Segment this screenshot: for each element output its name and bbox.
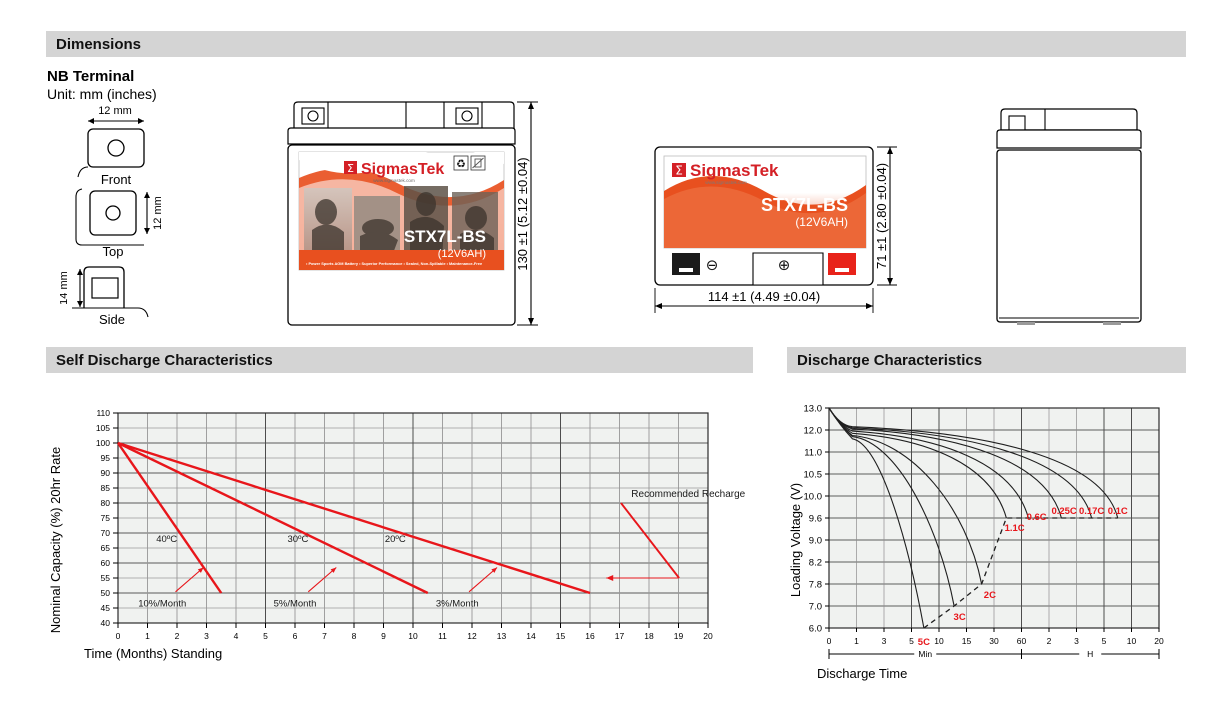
- battery-tagline: • Power Sports AGM Battery • Superior Pe…: [306, 261, 483, 266]
- x-tick-label: 10: [408, 631, 418, 641]
- rate-label-0.25C: 0.25C: [1051, 506, 1076, 517]
- axis-group-label: Min: [918, 649, 932, 659]
- y-tick-label: 60: [101, 558, 111, 568]
- battery-side-height-dimension: 71 ±1 (2.80 ±0.04): [874, 163, 889, 269]
- x-tick-label: 5: [263, 631, 268, 641]
- y-tick-label: 6.0: [809, 624, 822, 635]
- terminal-side-label: Side: [99, 312, 125, 327]
- battery-side-view: Σ SigmasTek www.sigmastek.com STX7L-BS (…: [650, 143, 935, 333]
- terminal-height-dim: 14 mm: [60, 271, 70, 305]
- x-tick-label: 8: [352, 631, 357, 641]
- section-header-discharge: Discharge Characteristics: [787, 347, 1186, 373]
- y-tick-label: 10.5: [804, 470, 823, 481]
- x-tick-label: 20: [703, 631, 713, 641]
- y-tick-label: 8.2: [809, 558, 822, 569]
- y-tick-label: 40: [101, 618, 111, 628]
- terminal-diagrams: 12 mm Front 12 mm Top 14 mm Side: [60, 104, 250, 330]
- battery-capacity-side: (12V6AH): [795, 215, 848, 229]
- battery-width-dimension: 114 ±1 (4.49 ±0.04): [708, 289, 820, 304]
- chart-annotation: 20ºC: [385, 534, 406, 545]
- section-header-self-discharge: Self Discharge Characteristics: [46, 347, 753, 373]
- y-tick-label: 13.0: [804, 404, 823, 415]
- self-discharge-x-axis-label: Time (Months) Standing: [84, 646, 222, 661]
- svg-text:Σ: Σ: [675, 164, 683, 178]
- rate-label-0.6C: 0.6C: [1027, 512, 1047, 523]
- section-title-dimensions: Dimensions: [56, 36, 141, 53]
- x-tick-label: 13: [497, 631, 507, 641]
- rate-label-5C: 5C: [918, 637, 930, 648]
- x-tick-label: 11: [438, 631, 447, 641]
- x-tick-label: 3: [1074, 636, 1079, 646]
- x-tick-label: 19: [674, 631, 684, 641]
- y-tick-label: 7.8: [809, 580, 822, 591]
- x-tick-label: 6: [293, 631, 298, 641]
- positive-terminal-icon: ⊕: [778, 256, 791, 274]
- x-tick-label: 9: [381, 631, 386, 641]
- battery-model-side: STX7L-BS: [761, 195, 848, 215]
- y-tick-label: 110: [96, 408, 110, 418]
- rate-label-0.1C: 0.1C: [1108, 506, 1128, 517]
- discharge-y-axis-label: Loading Voltage (V): [788, 483, 803, 597]
- section-header-dimensions: Dimensions: [46, 31, 1186, 57]
- x-tick-label: 0: [116, 631, 121, 641]
- chart-annotation: Recommended Recharge Point: [631, 489, 746, 500]
- y-tick-label: 7.0: [809, 602, 822, 613]
- y-tick-label: 85: [101, 483, 111, 493]
- battery-front-view: Σ SigmasTek www.sigmastek.com ♻ STX7L-BS…: [286, 100, 556, 335]
- y-tick-label: 10.0: [804, 492, 823, 503]
- x-tick-label: 15: [556, 631, 566, 641]
- terminal-front-label: Front: [101, 172, 132, 187]
- y-tick-label: 75: [101, 513, 111, 523]
- x-tick-label: 1: [145, 631, 150, 641]
- y-tick-label: 12.0: [804, 426, 823, 437]
- x-tick-label: 60: [1017, 636, 1027, 646]
- x-tick-label: 10: [934, 636, 944, 646]
- chart-annotation: 3%/Month: [436, 599, 479, 610]
- x-tick-label: 14: [526, 631, 536, 641]
- battery-capacity: (12V6AH): [438, 248, 486, 260]
- negative-terminal-icon: ⊖: [706, 256, 719, 274]
- y-tick-label: 80: [101, 498, 111, 508]
- y-tick-label: 70: [101, 528, 111, 538]
- y-tick-label: 100: [96, 438, 110, 448]
- chart-annotation: 5%/Month: [274, 599, 317, 610]
- y-tick-label: 50: [101, 588, 111, 598]
- discharge-x-axis-label: Discharge Time: [817, 666, 907, 681]
- x-tick-label: 5: [1102, 636, 1107, 646]
- x-tick-label: 18: [644, 631, 654, 641]
- x-tick-label: 3: [882, 636, 887, 646]
- brand-website: www.sigmastek.com: [373, 178, 415, 183]
- x-tick-label: 10: [1127, 636, 1137, 646]
- terminal-depth-dim: 12 mm: [152, 196, 164, 230]
- x-tick-label: 3: [204, 631, 209, 641]
- brand-website-side: www.sigmastek.com: [705, 180, 747, 185]
- x-tick-label: 7: [322, 631, 327, 641]
- terminal-side-view: [72, 267, 148, 317]
- battery-top-terminals: [294, 102, 514, 129]
- svg-text:♻: ♻: [456, 158, 466, 171]
- x-tick-label: 2: [1047, 636, 1052, 646]
- rate-label-3C: 3C: [954, 612, 966, 623]
- terminal-width-dim: 12 mm: [98, 105, 132, 117]
- terminal-top-view: [76, 189, 150, 245]
- y-tick-label: 55: [101, 573, 111, 583]
- x-tick-label: 2: [175, 631, 180, 641]
- self-discharge-chart: 404550556065707580859095100105110 012345…: [46, 405, 746, 680]
- brand-name-side: SigmasTek: [690, 161, 779, 180]
- recycle-icon: ♻: [454, 156, 468, 171]
- x-tick-label: 5: [909, 636, 914, 646]
- x-tick-label: 20: [1154, 636, 1164, 646]
- battery-height-dimension: 130 ±1 (5.12 ±0.04): [515, 157, 530, 270]
- y-tick-label: 95: [101, 453, 111, 463]
- x-tick-label: 12: [467, 631, 477, 641]
- x-tick-label: 1: [854, 636, 859, 646]
- section-title-discharge: Discharge Characteristics: [797, 352, 982, 369]
- x-tick-label: 16: [585, 631, 595, 641]
- rate-label-1.1C: 1.1C: [1005, 523, 1025, 534]
- y-tick-label: 9.6: [809, 514, 822, 525]
- x-tick-label: 17: [615, 631, 625, 641]
- chart-annotation: 30ºC: [287, 534, 308, 545]
- terminal-front-view: [78, 129, 144, 177]
- terminal-top-label: Top: [103, 244, 124, 259]
- y-tick-label: 45: [101, 603, 111, 613]
- y-tick-label: 9.0: [809, 536, 822, 547]
- y-tick-label: 90: [101, 468, 111, 478]
- x-tick-label: 30: [989, 636, 999, 646]
- discharge-chart: 13.012.011.010.510.09.69.08.27.87.06.0 0…: [787, 390, 1187, 690]
- svg-text:Σ: Σ: [347, 162, 354, 175]
- y-tick-label: 65: [101, 543, 111, 553]
- rate-label-0.17C: 0.17C: [1079, 506, 1104, 517]
- brand-name: SigmasTek: [361, 161, 444, 178]
- x-tick-label: 0: [827, 636, 832, 646]
- battery-profile-view: [995, 96, 1155, 336]
- chart-annotation: 40ºC: [156, 534, 177, 545]
- x-tick-label: 15: [962, 636, 972, 646]
- nb-terminal-title: NB Terminal: [47, 68, 134, 85]
- crossed-out-bin-icon: [471, 156, 485, 170]
- rate-label-2C: 2C: [984, 590, 996, 601]
- y-tick-label: 11.0: [804, 448, 822, 459]
- unit-label: Unit: mm (inches): [47, 86, 157, 102]
- y-tick-label: 105: [96, 423, 110, 433]
- chart-annotation: 10%/Month: [138, 599, 186, 610]
- axis-group-label: H: [1087, 649, 1093, 659]
- section-title-self-discharge: Self Discharge Characteristics: [56, 352, 273, 369]
- battery-model: STX7L-BS: [404, 227, 486, 246]
- x-tick-label: 4: [234, 631, 239, 641]
- self-discharge-y-axis-label: Nominal Capacity (%) 20hr Rate: [48, 447, 63, 633]
